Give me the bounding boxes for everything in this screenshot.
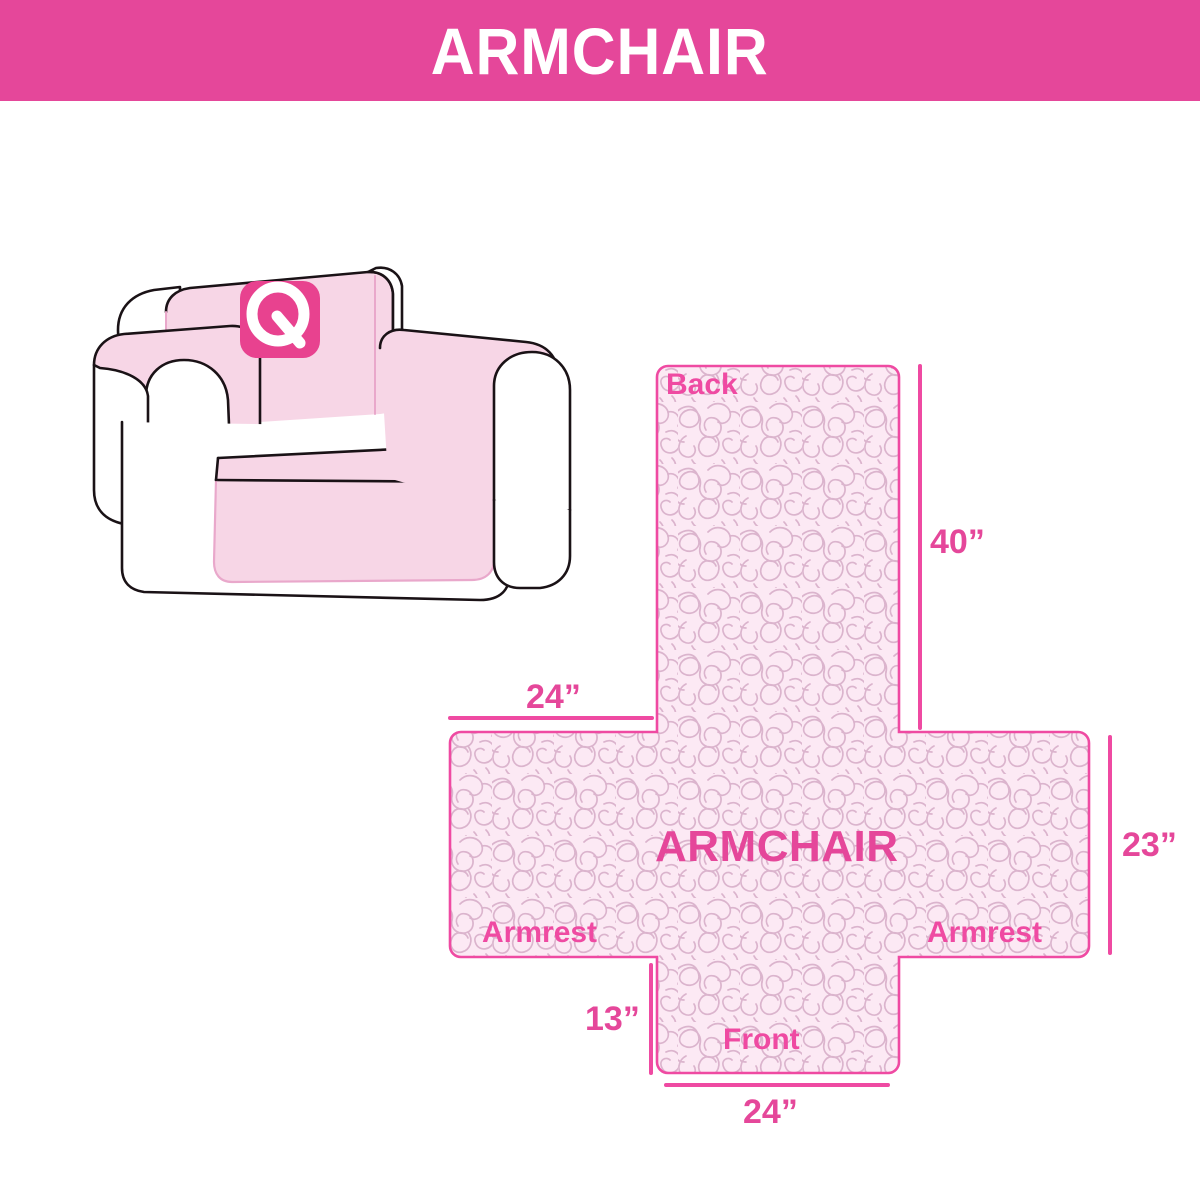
panel-label-armrest-left: Armrest xyxy=(482,918,597,948)
panel-label-front: Front xyxy=(723,1025,800,1055)
cross-pattern-diagram: Back ARMCHAIR Armrest Armrest Front 40” … xyxy=(430,340,1190,1130)
dimension-label-armrest-top-width: 24” xyxy=(526,680,581,714)
diagram-center-label: ARMCHAIR xyxy=(655,825,899,869)
brand-logo-badge xyxy=(240,281,320,358)
page-header-banner: ARMCHAIR xyxy=(0,0,1200,101)
panel-label-back: Back xyxy=(666,370,738,400)
dimension-label-front-height: 13” xyxy=(585,1002,640,1036)
cross-pattern-outline xyxy=(450,366,1089,1073)
panel-label-armrest-right: Armrest xyxy=(927,918,1042,948)
product-dimension-infographic: ARMCHAIR xyxy=(0,0,1200,1200)
page-title: ARMCHAIR xyxy=(431,18,769,84)
dimension-label-front-width: 24” xyxy=(743,1095,798,1129)
dimension-label-armrest-height: 23” xyxy=(1122,828,1177,862)
dimension-label-back-height: 40” xyxy=(930,525,985,559)
